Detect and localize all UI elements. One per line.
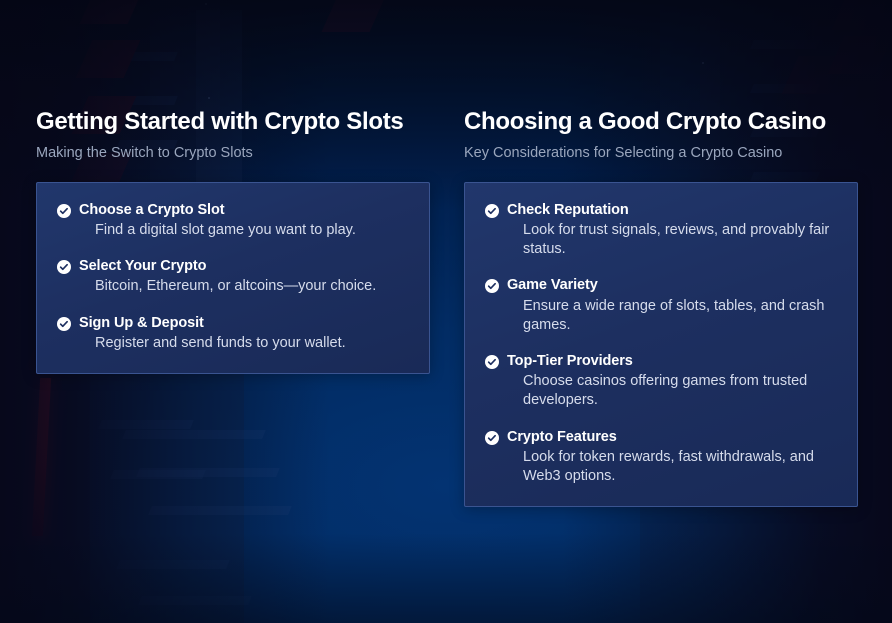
list-item: Check Reputation Look for trust signals,…	[485, 201, 837, 260]
steps-card-right: Check Reputation Look for trust signals,…	[464, 182, 858, 508]
list-item: Top-Tier Providers Choose casinos offeri…	[485, 352, 837, 411]
steps-card-left: Choose a Crypto Slot Find a digital slot…	[36, 182, 430, 374]
check-circle-icon	[485, 355, 499, 369]
list-item: Sign Up & Deposit Register and send fund…	[57, 314, 409, 353]
column-getting-started: Getting Started with Crypto Slots Making…	[36, 108, 430, 374]
check-circle-icon	[485, 431, 499, 445]
list-item-title: Select Your Crypto	[79, 257, 409, 275]
page-subtitle-right: Key Considerations for Selecting a Crypt…	[464, 145, 858, 162]
list-item: Crypto Features Look for token rewards, …	[485, 428, 837, 487]
list-item-title: Check Reputation	[507, 201, 837, 219]
list-item-desc: Find a digital slot game you want to pla…	[95, 221, 409, 240]
column-choosing-casino: Choosing a Good Crypto Casino Key Consid…	[464, 108, 858, 507]
check-circle-icon	[57, 204, 71, 218]
list-item-title: Choose a Crypto Slot	[79, 201, 409, 219]
check-circle-icon	[57, 260, 71, 274]
list-item-title: Sign Up & Deposit	[79, 314, 409, 332]
list-item-desc: Bitcoin, Ethereum, or altcoins—your choi…	[95, 277, 409, 296]
list-item: Choose a Crypto Slot Find a digital slot…	[57, 201, 409, 240]
page-title-left: Getting Started with Crypto Slots	[36, 108, 430, 136]
list-item-title: Game Variety	[507, 276, 837, 294]
list-item-title: Top-Tier Providers	[507, 352, 837, 370]
check-circle-icon	[57, 317, 71, 331]
list-item-desc: Choose casinos offering games from trust…	[523, 372, 837, 411]
list-item-desc: Look for trust signals, reviews, and pro…	[523, 221, 837, 260]
list-item: Select Your Crypto Bitcoin, Ethereum, or…	[57, 257, 409, 296]
check-circle-icon	[485, 204, 499, 218]
page-subtitle-left: Making the Switch to Crypto Slots	[36, 145, 430, 162]
list-item-desc: Ensure a wide range of slots, tables, an…	[523, 297, 837, 336]
list-item-title: Crypto Features	[507, 428, 837, 446]
list-item-desc: Register and send funds to your wallet.	[95, 334, 409, 353]
content-layer: Getting Started with Crypto Slots Making…	[0, 0, 892, 623]
check-circle-icon	[485, 279, 499, 293]
list-item: Game Variety Ensure a wide range of slot…	[485, 276, 837, 335]
list-item-desc: Look for token rewards, fast withdrawals…	[523, 448, 837, 487]
page-title-right: Choosing a Good Crypto Casino	[464, 108, 858, 136]
